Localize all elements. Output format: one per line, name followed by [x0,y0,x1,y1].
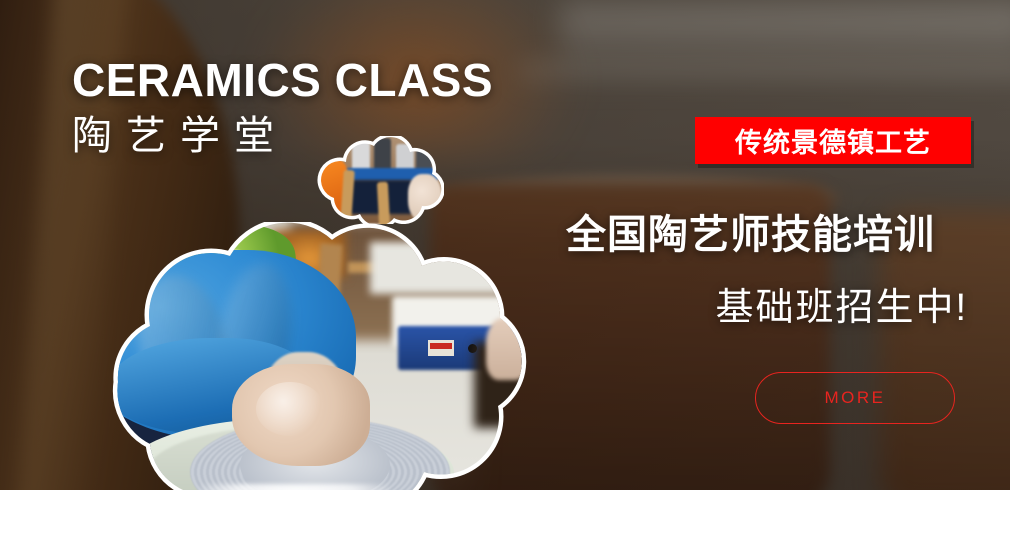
more-button[interactable]: MORE [755,372,955,424]
tradition-badge-label: 传统景德镇工艺 [735,121,931,160]
banner-title-english: CERAMICS CLASS [72,56,493,104]
big-cloud-shape [80,222,536,490]
banner-headline: 全国陶艺师技能培训 [566,202,935,260]
banner-title-chinese: 陶艺学堂 [72,112,288,160]
big-cloud-photo [80,222,536,490]
bottom-white-strip [0,490,1010,538]
small-cloud-photo [316,136,444,224]
small-cloud-shape [316,136,444,224]
tradition-badge: 传统景德镇工艺 [695,117,971,164]
ceramics-class-banner: CERAMICS CLASS 陶艺学堂 传统景德镇工艺 全国陶艺师技能培训 基础… [0,0,1010,490]
more-button-label: MORE [825,388,886,408]
banner-subheadline: 基础班招生中! [715,276,968,331]
